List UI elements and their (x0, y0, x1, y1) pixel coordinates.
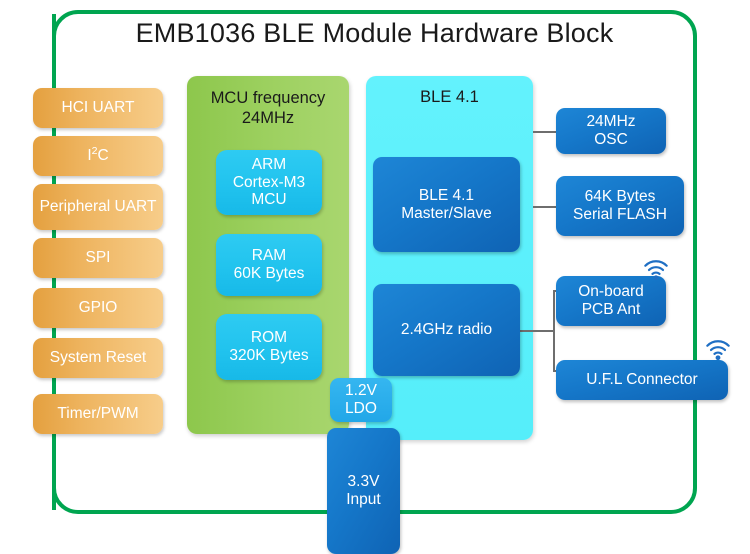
peripheral-i2c[interactable]: I2C (33, 136, 163, 176)
peripheral-gpio[interactable]: GPIO (33, 288, 163, 328)
peripheral-system-reset[interactable]: System Reset (33, 338, 163, 378)
block-label-line1: U.F.L Connector (586, 371, 697, 389)
block-ufl-connector[interactable]: U.F.L Connector (556, 360, 728, 400)
wifi-signal-icon (703, 336, 733, 362)
peripheral-hci-uart[interactable]: HCI UART (33, 88, 163, 128)
block-label-line2: Serial FLASH (573, 206, 667, 224)
connector-antenna-trunk (553, 290, 555, 372)
hardware-block-diagram: EMB1036 BLE Module Hardware Block HCI UA… (0, 0, 750, 554)
block-label-line1: 64K Bytes (573, 188, 667, 206)
peripheral-label: Peripheral UART (40, 198, 157, 215)
peripheral-label: HCI UART (62, 99, 135, 116)
block-serial-flash[interactable]: 64K Bytes Serial FLASH (556, 176, 684, 236)
peripheral-label: Timer/PWM (57, 405, 138, 422)
peripheral-label: SPI (86, 249, 111, 266)
block-ble-master-slave[interactable]: BLE 4.1 Master/Slave (373, 157, 520, 252)
block-label-line1: ARM (233, 156, 305, 174)
peripheral-label: GPIO (79, 299, 118, 316)
block-label-line1: RAM (234, 247, 305, 265)
peripheral-spi[interactable]: SPI (33, 238, 163, 278)
block-label-line2: Input (346, 491, 380, 509)
block-onboard-pcb-antenna[interactable]: On-board PCB Ant (556, 276, 666, 326)
block-label-line2: PCB Ant (578, 301, 643, 319)
block-label-line2: LDO (345, 400, 377, 418)
block-label-line1: On-board (578, 283, 643, 301)
ble-domain-label: BLE 4.1 (366, 88, 533, 107)
block-label-line1: BLE 4.1 (401, 187, 491, 205)
peripheral-uart[interactable]: Peripheral UART (33, 184, 163, 230)
block-ram[interactable]: RAM 60K Bytes (216, 234, 322, 296)
block-label-line3: MCU (233, 191, 305, 209)
block-label-line2: 320K Bytes (229, 347, 308, 365)
diagram-title: EMB1036 BLE Module Hardware Block (52, 18, 697, 49)
connector-ble-to-serial-flash (533, 206, 557, 208)
block-label-line1: 3.3V (346, 473, 380, 491)
block-label-line1: 1.2V (345, 382, 377, 400)
peripheral-label: System Reset (50, 349, 146, 366)
block-24mhz-osc[interactable]: 24MHz OSC (556, 108, 666, 154)
block-3v3-input[interactable]: 3.3V Input (327, 428, 400, 554)
block-label-line1: 2.4GHz radio (401, 321, 492, 339)
wifi-signal-icon (641, 256, 671, 282)
connector-radio-stem (520, 330, 555, 332)
block-arm-cortex-m3-mcu[interactable]: ARM Cortex-M3 MCU (216, 150, 322, 215)
mcu-frequency-line2: 24MHz (187, 108, 349, 128)
peripheral-timer-pwm[interactable]: Timer/PWM (33, 394, 163, 434)
block-label-line2: Master/Slave (401, 205, 491, 223)
mcu-domain-label: MCU frequency 24MHz (187, 88, 349, 128)
block-label-line2: Cortex-M3 (233, 174, 305, 192)
block-label-line1: 24MHz (586, 113, 635, 131)
wifi-dot (716, 355, 721, 360)
block-label-line2: OSC (586, 131, 635, 149)
wifi-dot (654, 275, 659, 280)
mcu-frequency-line1: MCU frequency (187, 88, 349, 108)
block-label-line2: 60K Bytes (234, 265, 305, 283)
block-label-line1: ROM (229, 329, 308, 347)
block-rom[interactable]: ROM 320K Bytes (216, 314, 322, 380)
block-1v2-ldo[interactable]: 1.2V LDO (330, 378, 392, 422)
peripheral-label: I2C (87, 147, 108, 164)
connector-ble-to-osc (533, 131, 557, 133)
block-24ghz-radio[interactable]: 2.4GHz radio (373, 284, 520, 376)
